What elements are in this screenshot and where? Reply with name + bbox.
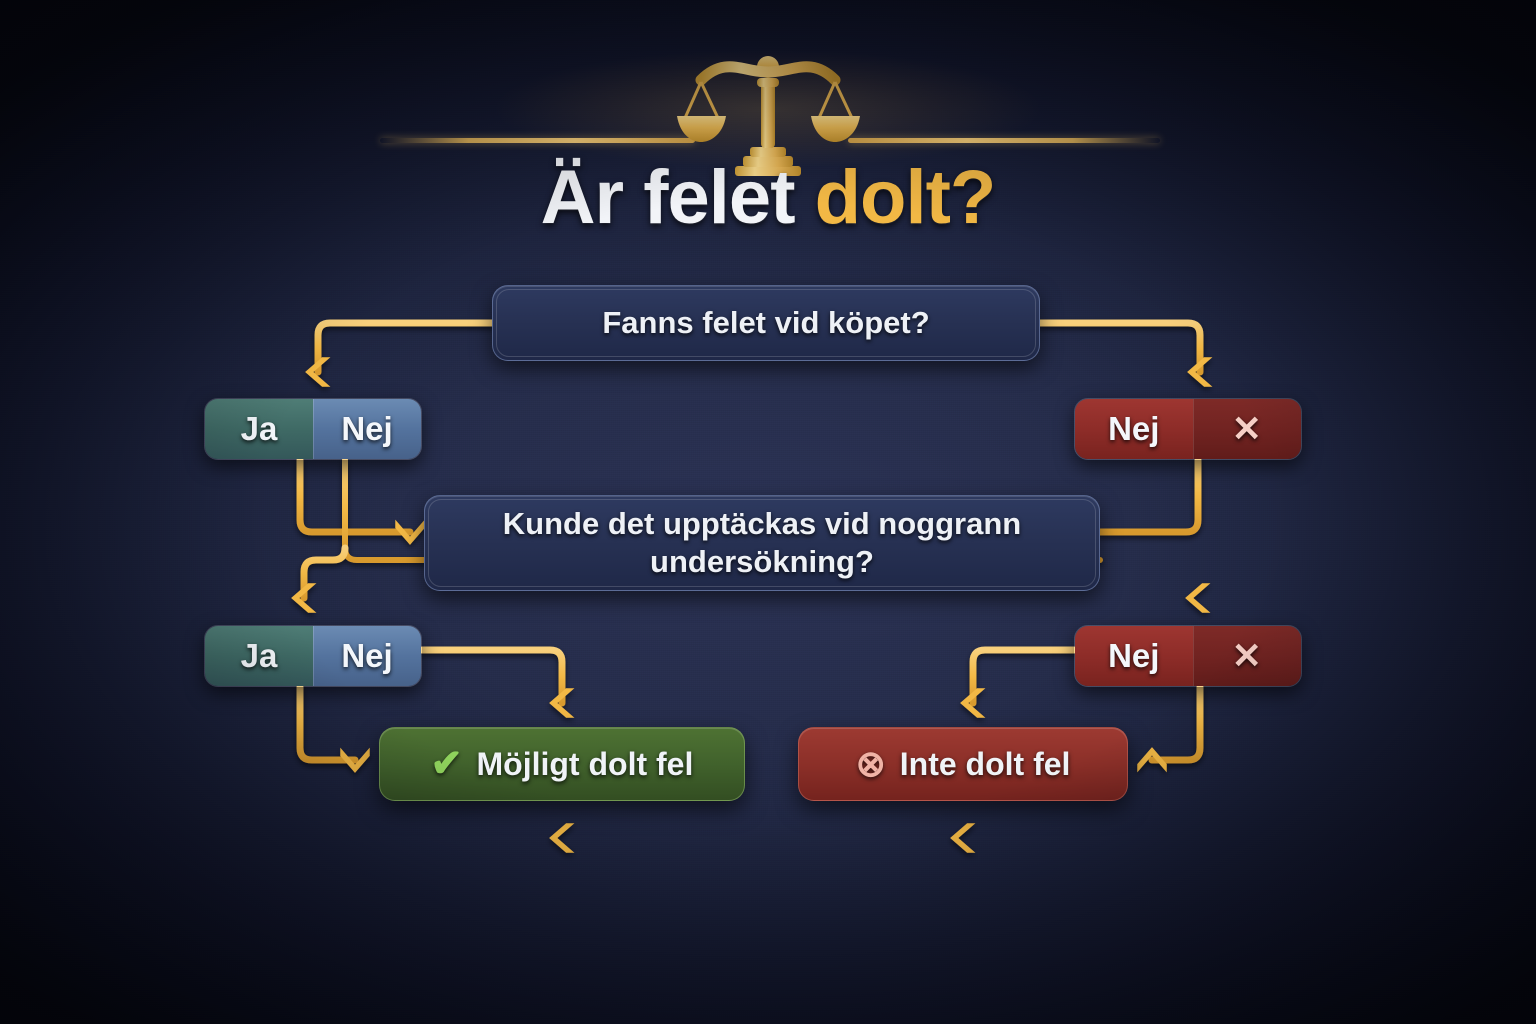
pill-yes-option[interactable]: Ja xyxy=(205,399,313,459)
answer-pill-yes-no-2[interactable]: Ja Nej xyxy=(204,625,422,687)
connector-ja2-to-green xyxy=(300,687,355,760)
divider-right xyxy=(848,138,1160,143)
answer-pill-no-reject-2[interactable]: Nej ✕ xyxy=(1074,625,1302,687)
result-node-label: Möjligt dolt fel xyxy=(477,746,694,783)
cross-icon: ✕ xyxy=(1193,399,1301,459)
pill-no-option[interactable]: Nej xyxy=(313,626,421,686)
connector-nejbr-to-red-top xyxy=(973,650,1074,703)
answer-pill-yes-no-1[interactable]: Ja Nej xyxy=(204,398,422,460)
decision-node-label: Kunde det upptäckas vid noggrann undersö… xyxy=(451,505,1073,581)
connector-nejbr-to-red-right xyxy=(1152,687,1200,760)
pill-yes-option[interactable]: Ja xyxy=(205,626,313,686)
connector-q1-right xyxy=(1040,323,1200,372)
pill-no-label[interactable]: Nej xyxy=(1075,399,1193,459)
pill-no-option[interactable]: Nej xyxy=(313,399,421,459)
result-node-mojligt-dolt-fel[interactable]: ✔ Möjligt dolt fel xyxy=(379,727,745,801)
header-emblem-area xyxy=(0,18,1536,158)
cross-icon: ✕ xyxy=(1193,626,1301,686)
pill-no-label[interactable]: Nej xyxy=(1075,626,1193,686)
divider-left xyxy=(380,138,695,143)
circled-x-icon: ⊗ xyxy=(856,746,886,782)
check-icon: ✔ xyxy=(431,745,463,783)
connector-nej1r-tee xyxy=(1100,460,1198,532)
decision-node-label: Fanns felet vid köpet? xyxy=(602,305,929,341)
page-title-accent: dolt? xyxy=(815,155,996,240)
decision-node-fanns-felet[interactable]: Fanns felet vid köpet? xyxy=(492,285,1040,361)
result-node-label: Inte dolt fel xyxy=(900,746,1071,783)
connector-nej2-to-green xyxy=(422,650,562,703)
connector-q1-left xyxy=(318,323,492,372)
page-title-primary: Är felet xyxy=(541,155,795,240)
page-title: Är felet dolt? xyxy=(0,158,1536,238)
connector-q2-left-branch xyxy=(304,548,345,598)
answer-pill-no-reject-1[interactable]: Nej ✕ xyxy=(1074,398,1302,460)
flowchart-canvas: Är felet dolt? xyxy=(0,0,1536,1024)
result-node-inte-dolt-fel[interactable]: ⊗ Inte dolt fel xyxy=(798,727,1128,801)
connector-ja1-to-q2 xyxy=(300,460,410,532)
decision-node-kunde-upptackas[interactable]: Kunde det upptäckas vid noggrann undersö… xyxy=(424,495,1100,591)
